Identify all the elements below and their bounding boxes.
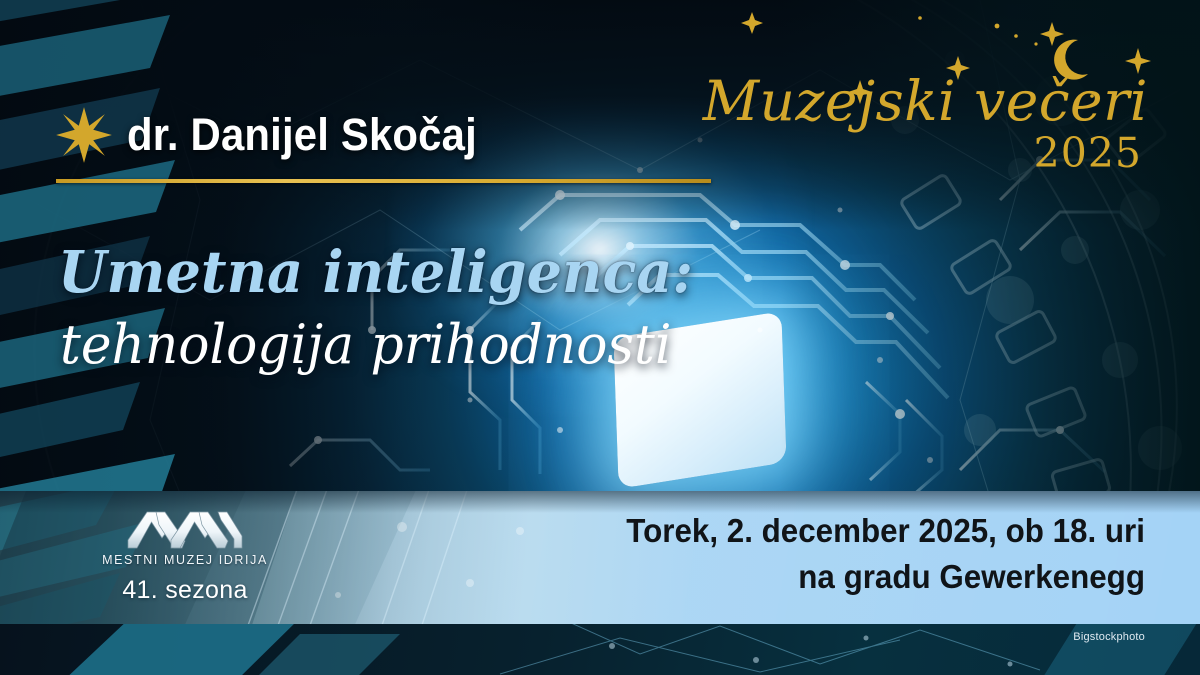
organizer-logo-block: MESTNI MUZEJ IDRIJA 41. sezona <box>85 505 285 605</box>
page-title: Umetna inteligenca: <box>58 243 693 301</box>
series-year: 2025 <box>703 133 1142 174</box>
footer-artwork <box>0 624 1200 675</box>
star-icon <box>55 106 113 164</box>
speaker-name: dr. Danijel Skočaj <box>127 109 477 161</box>
gold-divider-rule <box>56 179 711 183</box>
small-star-icon <box>741 12 763 34</box>
poster-canvas: dr. Danijel Skočaj Umetna inteligenca: t… <box>0 0 1200 675</box>
series-name: Muzejski večeri <box>703 74 1148 129</box>
footer-strip <box>0 624 1200 675</box>
series-title-block: Muzejski večeri 2025 <box>703 74 1148 174</box>
event-date-line: Torek, 2. december 2025, ob 18. uri <box>626 508 1145 554</box>
museum-monogram-icon <box>125 505 245 551</box>
season-label: 41. sezona <box>85 576 285 605</box>
page-subtitle: tehnologija prihodnosti <box>60 318 671 372</box>
speaker-row: dr. Danijel Skočaj <box>55 103 503 167</box>
photo-credit: Bigstockphoto <box>1073 631 1145 643</box>
event-venue-line: na gradu Gewerkenegg <box>626 554 1145 600</box>
small-star-icon <box>1040 22 1064 46</box>
organizer-logo-text: MESTNI MUZEJ IDRIJA <box>85 553 285 567</box>
event-details: Torek, 2. december 2025, ob 18. uri na g… <box>626 508 1145 599</box>
